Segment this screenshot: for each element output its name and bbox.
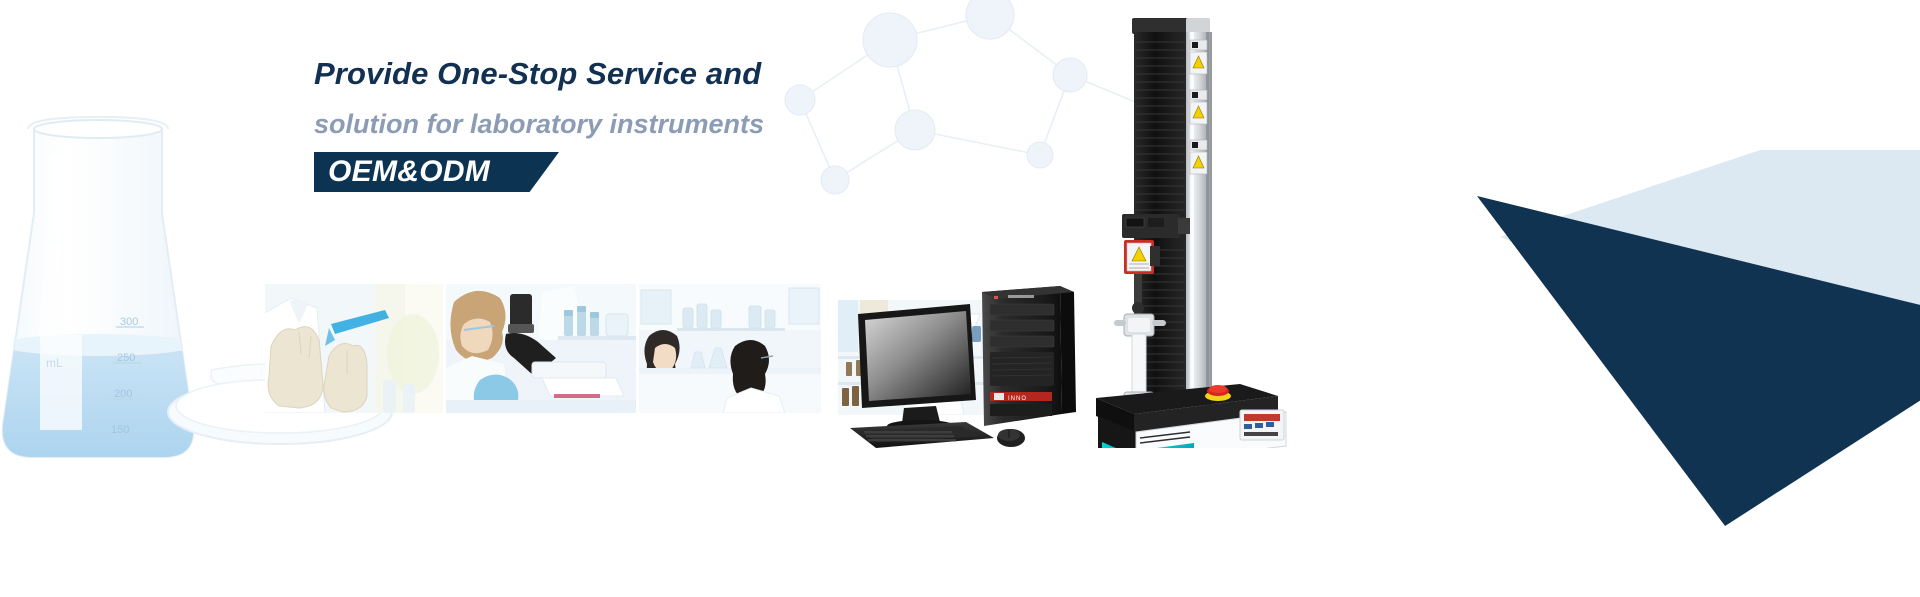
svg-text:250: 250 bbox=[117, 352, 135, 364]
headline-line-2: solution for laboratory instruments bbox=[314, 108, 1014, 142]
warning-label bbox=[1190, 90, 1207, 124]
oem-odm-badge: OEM&ODM bbox=[314, 152, 559, 192]
photo-lab-bench bbox=[639, 284, 821, 413]
photo-strip bbox=[265, 284, 821, 413]
svg-text:INNO: INNO bbox=[1008, 396, 1027, 402]
desktop-computer: INNO bbox=[848, 286, 1108, 456]
svg-text:300: 300 bbox=[120, 316, 138, 328]
computer-tower: INNO bbox=[982, 286, 1076, 426]
svg-text:mL: mL bbox=[46, 356, 63, 370]
universal-tensile-testing-machine bbox=[1090, 18, 1300, 448]
svg-text:150: 150 bbox=[111, 424, 129, 436]
keyboard bbox=[850, 422, 994, 448]
headline-line-1: Provide One-Stop Service and bbox=[314, 55, 1014, 94]
warning-label bbox=[1190, 140, 1207, 174]
mouse bbox=[997, 429, 1025, 447]
hero-banner: 300 250 200 150 mL Provide One-Stop Serv… bbox=[0, 0, 1920, 597]
badge-label: OEM&ODM bbox=[328, 154, 490, 190]
headline-block: Provide One-Stop Service and solution fo… bbox=[314, 55, 1014, 142]
svg-text:200: 200 bbox=[114, 388, 132, 400]
photo-pipetting bbox=[265, 284, 443, 413]
crosshead bbox=[1122, 214, 1190, 238]
warning-label bbox=[1190, 40, 1207, 74]
monitor bbox=[858, 304, 976, 432]
photo-microscope bbox=[446, 284, 636, 413]
